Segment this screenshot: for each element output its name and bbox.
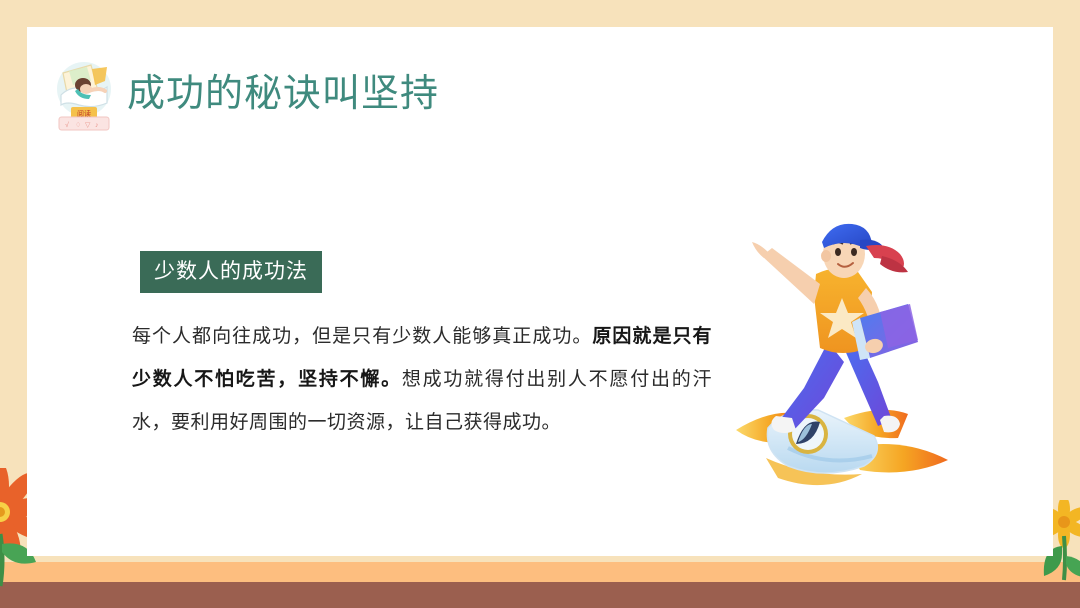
- svg-text:▽: ▽: [85, 122, 91, 129]
- svg-text:√: √: [65, 121, 69, 129]
- page-title: 成功的秘诀叫坚持: [127, 75, 439, 113]
- slide-canvas: 阅读 √ ♢ ▽ ♪ 成功的秘诀叫坚持 少数人的成功法 每个人都向往成功，但是只…: [0, 0, 1080, 608]
- slide-header: 阅读 √ ♢ ▽ ♪ 成功的秘诀叫坚持: [47, 55, 439, 133]
- orange-footer-band: [0, 562, 1080, 582]
- section-banner: 少数人的成功法: [140, 251, 322, 293]
- boy-riding-rocket-illustration: [732, 222, 962, 507]
- svg-text:♢: ♢: [75, 121, 81, 129]
- child-reading-badge-icon: 阅读 √ ♢ ▽ ♪: [47, 55, 121, 133]
- svg-text:♪: ♪: [95, 122, 99, 129]
- brown-footer-band: [0, 582, 1080, 608]
- body-paragraph: 每个人都向往成功，但是只有少数人能够真正成功。原因就是只有少数人不怕吃苦，坚持不…: [132, 315, 712, 444]
- content-card: 阅读 √ ♢ ▽ ♪ 成功的秘诀叫坚持 少数人的成功法 每个人都向往成功，但是只…: [27, 27, 1053, 556]
- paragraph-segment-normal-1: 每个人都向往成功，但是只有少数人能够真正成功。: [132, 326, 592, 347]
